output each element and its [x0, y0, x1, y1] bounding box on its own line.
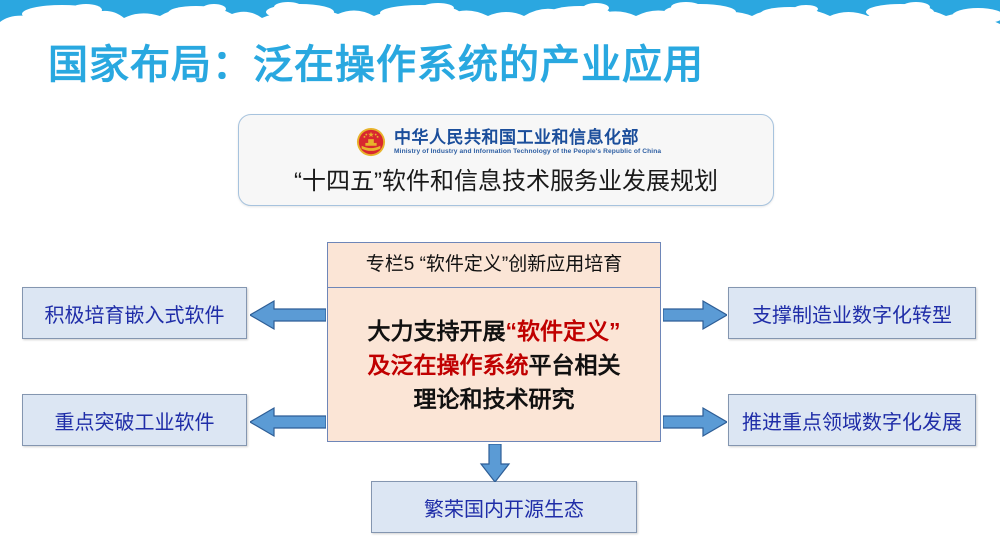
center-body-l1-red: “软件定义” — [506, 318, 621, 344]
arrow-left-icon — [250, 405, 326, 439]
box-open-source-ecosystem: 繁荣国内开源生态 — [371, 481, 637, 533]
page-title: 国家布局：泛在操作系统的产业应用 — [48, 32, 704, 90]
arrow-right-icon — [663, 298, 727, 332]
box-key-fields-digital: 推进重点领域数字化发展 — [728, 394, 976, 446]
ministry-name-en: Ministry of Industry and Information Tec… — [394, 147, 661, 156]
china-national-emblem-icon — [356, 127, 386, 157]
arrow-left-icon — [250, 298, 326, 332]
center-policy-box: 专栏5 “软件定义”创新应用培育 大力支持开展“软件定义” 及泛在操作系统平台相… — [327, 242, 661, 442]
center-body-l2-red: 及泛在操作系统 — [368, 352, 529, 378]
center-body-l2-black: 平台相关 — [529, 352, 621, 378]
box-manufacturing-digital: 支撑制造业数字化转型 — [728, 287, 976, 339]
box-embedded-software: 积极培育嵌入式软件 — [22, 287, 247, 339]
arrow-down-icon — [478, 444, 512, 482]
center-body-l1-black: 大力支持开展 — [368, 318, 506, 344]
center-box-heading: 专栏5 “软件定义”创新应用培育 — [328, 243, 660, 288]
ministry-name-cn: 中华人民共和国工业和信息化部 — [394, 128, 656, 147]
center-body-l3-black: 理论和技术研究 — [414, 386, 575, 412]
center-box-body: 大力支持开展“软件定义” 及泛在操作系统平台相关 理论和技术研究 — [328, 288, 660, 442]
plan-title: “十四五”软件和信息技术服务业发展规划 — [239, 167, 773, 197]
ministry-identity: 中华人民共和国工业和信息化部 Ministry of Industry and … — [239, 115, 773, 163]
cloud-pattern-icon — [0, 0, 1000, 34]
ministry-plan-banner: 中华人民共和国工业和信息化部 Ministry of Industry and … — [238, 114, 774, 206]
box-industrial-software: 重点突破工业软件 — [22, 394, 247, 446]
cloud-header-band — [0, 0, 1000, 34]
arrow-right-icon — [663, 405, 727, 439]
